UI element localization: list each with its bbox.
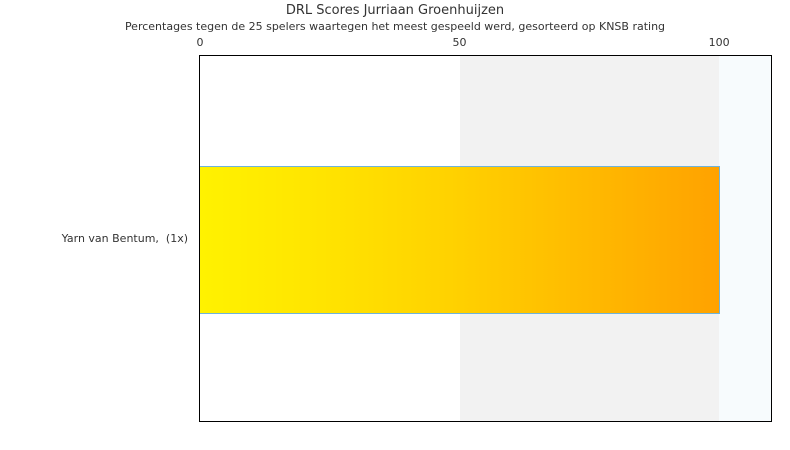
x-tick-label-100: 100 [709,36,730,50]
background-band-above-100 [719,56,771,421]
plot-area [199,55,772,422]
chart-subtitle: Percentages tegen de 25 spelers waartege… [0,20,790,34]
x-tick-label-50: 50 [453,36,467,50]
x-tick-label-0: 0 [197,36,204,50]
chart-container: DRL Scores Jurriaan Groenhuijzen Percent… [0,0,790,450]
chart-title: DRL Scores Jurriaan Groenhuijzen [0,3,790,19]
bar-0[interactable] [199,166,720,314]
x-axis-top: 0 50 100 [0,36,790,52]
category-label-0: Yarn van Bentum, (1x) [62,232,188,246]
